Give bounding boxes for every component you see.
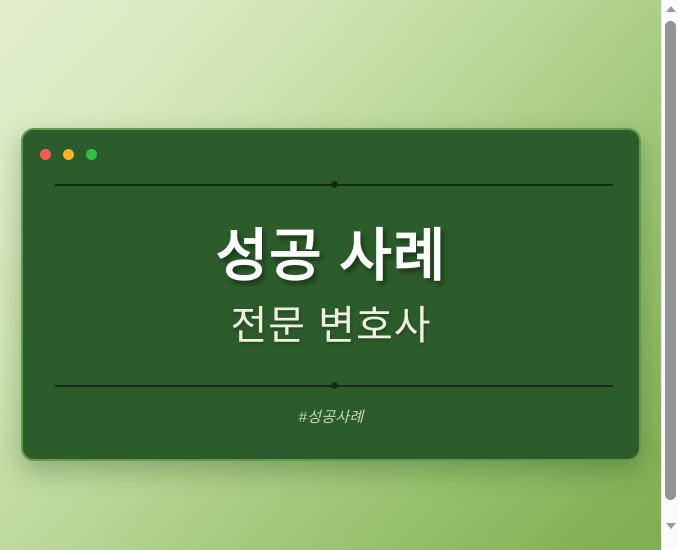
vertical-scrollbar[interactable] xyxy=(661,0,678,550)
slide-card[interactable]: 성공 사례 전문 변호사 #성공사례 xyxy=(21,128,641,461)
maximize-button[interactable] xyxy=(86,149,97,160)
slide-text-block: 성공 사례 전문 변호사 xyxy=(23,192,639,382)
window-traffic-lights xyxy=(40,149,97,160)
slide-subtitle: 전문 변호사 xyxy=(230,304,431,348)
close-button[interactable] xyxy=(40,149,51,160)
chevron-up-icon[interactable] xyxy=(662,0,678,17)
page-title: 성공 사례 xyxy=(216,226,447,286)
dot-divider-icon xyxy=(331,181,338,188)
chevron-up-glyph xyxy=(666,6,676,12)
chevron-down-glyph xyxy=(666,523,676,529)
scrollbar-thumb[interactable] xyxy=(665,21,676,500)
minimize-button[interactable] xyxy=(63,149,74,160)
dot-divider-icon xyxy=(331,382,338,389)
divider-bottom xyxy=(55,384,613,387)
page-canvas: 성공 사례 전문 변호사 #성공사례 xyxy=(0,0,661,550)
slide-hashtag: #성공사례 xyxy=(23,406,639,427)
divider-top xyxy=(55,183,613,186)
chevron-down-icon[interactable] xyxy=(662,517,678,534)
